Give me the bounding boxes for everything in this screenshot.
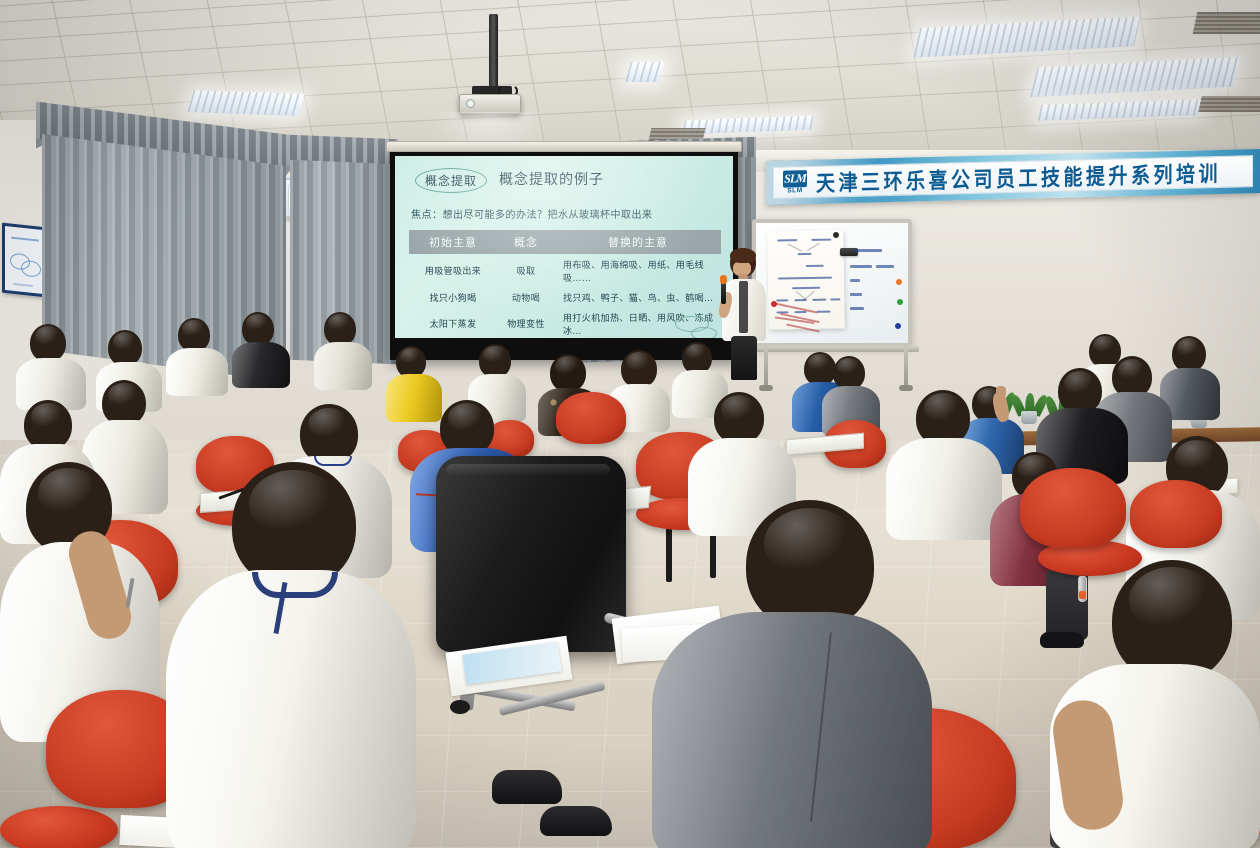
table-row: 用吸管吸出来 吸取 用布吸、用海绵吸、用纸、用毛线吸…… (409, 254, 721, 287)
chair-back[interactable] (1130, 480, 1222, 548)
magnet-dark (833, 232, 839, 238)
table-header-cell: 概念 (497, 230, 555, 254)
marker-writing (850, 307, 864, 310)
banner-title: 天津三环乐喜公司员工技能提升系列培训 (816, 156, 1221, 197)
attendee-foreground-gray (652, 500, 932, 848)
slide-badge: 概念提取 (415, 168, 487, 193)
attendee-back (314, 312, 372, 388)
projection-screen-case (386, 141, 742, 152)
table-header-cell: 初始主意 (409, 230, 497, 254)
ceiling-vent (1198, 96, 1260, 112)
microphone-head-icon (720, 275, 727, 284)
presenter-head (730, 248, 756, 277)
slm-logo-mark: SLM (783, 170, 807, 188)
marker-writing (850, 293, 862, 296)
whiteboard-assembly (752, 219, 912, 347)
shoe (492, 770, 562, 804)
projector-lens-icon (466, 99, 475, 108)
table-cell: 找只小狗喝 (409, 287, 497, 307)
projection-screen: 概念提取 概念提取的例子 焦点：想出尽可能多的办法？把水从玻璃杯中取出来 初始主… (390, 150, 738, 360)
table-cell: 找只鸡、鸭子、猫、鸟、虫、鹤喝… (555, 287, 721, 307)
shoe (540, 806, 612, 836)
marker-writing (850, 279, 860, 282)
classroom-photo: 概念提取 概念提取的例子 焦点：想出尽可能多的办法？把水从玻璃杯中取出来 初始主… (0, 0, 1260, 848)
slide-table: 初始主意 概念 替换的主意 用吸管吸出来 吸取 用布吸、用海绵吸、用纸、用毛线吸… (409, 230, 721, 338)
chair-back[interactable] (556, 392, 626, 444)
wall-poster (2, 223, 46, 298)
marker-writing (850, 265, 872, 268)
magnet-blue (895, 323, 901, 329)
table-row: 找只小狗喝 动物喝 找只鸡、鸭子、猫、鸟、虫、鹤喝… (409, 287, 721, 307)
attendee-foreground-white-right (1050, 560, 1260, 848)
marker-writing (854, 249, 882, 252)
collar (252, 572, 338, 598)
marker-writing (876, 265, 894, 268)
attendee-front-white (166, 462, 416, 848)
attendee-back (16, 324, 86, 404)
slide-content: 概念提取 概念提取的例子 焦点：想出尽可能多的办法？把水从玻璃杯中取出来 初始主… (395, 156, 733, 338)
magnet-orange (896, 279, 902, 285)
presenter-trousers (731, 336, 757, 380)
ceiling-light-panel (187, 90, 304, 116)
flipchart-paper (767, 230, 845, 329)
whiteboard-foot (759, 385, 773, 391)
projector-mount-rod (489, 14, 498, 88)
executive-chair-back[interactable] (436, 456, 626, 652)
table-header-row: 初始主意 概念 替换的主意 (409, 230, 721, 254)
slide-title: 概念提取的例子 (499, 169, 604, 189)
table-cell: 太阳下蒸发 (409, 307, 497, 338)
attendee-back (166, 318, 228, 394)
ceiling-vent (1193, 12, 1260, 34)
slm-logo-text: SLM (787, 187, 803, 195)
table-header-cell: 替换的主意 (555, 230, 721, 254)
slm-logo-icon: SLM SLM (781, 168, 809, 196)
table-cell: 物理变性 (497, 307, 555, 338)
table-cell: 用布吸、用海绵吸、用纸、用毛线吸…… (555, 254, 721, 287)
chair-back[interactable] (1020, 468, 1126, 548)
whiteboard-leg (904, 345, 908, 387)
table-cell: 用吸管吸出来 (409, 254, 497, 287)
attendee-back (232, 312, 290, 386)
magnet-green (897, 299, 903, 305)
slide-focus-line: 焦点：想出尽可能多的办法？把水从玻璃杯中取出来 (411, 206, 653, 221)
ceiling-light-panel (625, 62, 665, 82)
table-cell: 动物喝 (497, 287, 555, 307)
whiteboard (752, 219, 912, 347)
table-cell: 吸取 (497, 254, 555, 287)
microphone (721, 282, 726, 304)
